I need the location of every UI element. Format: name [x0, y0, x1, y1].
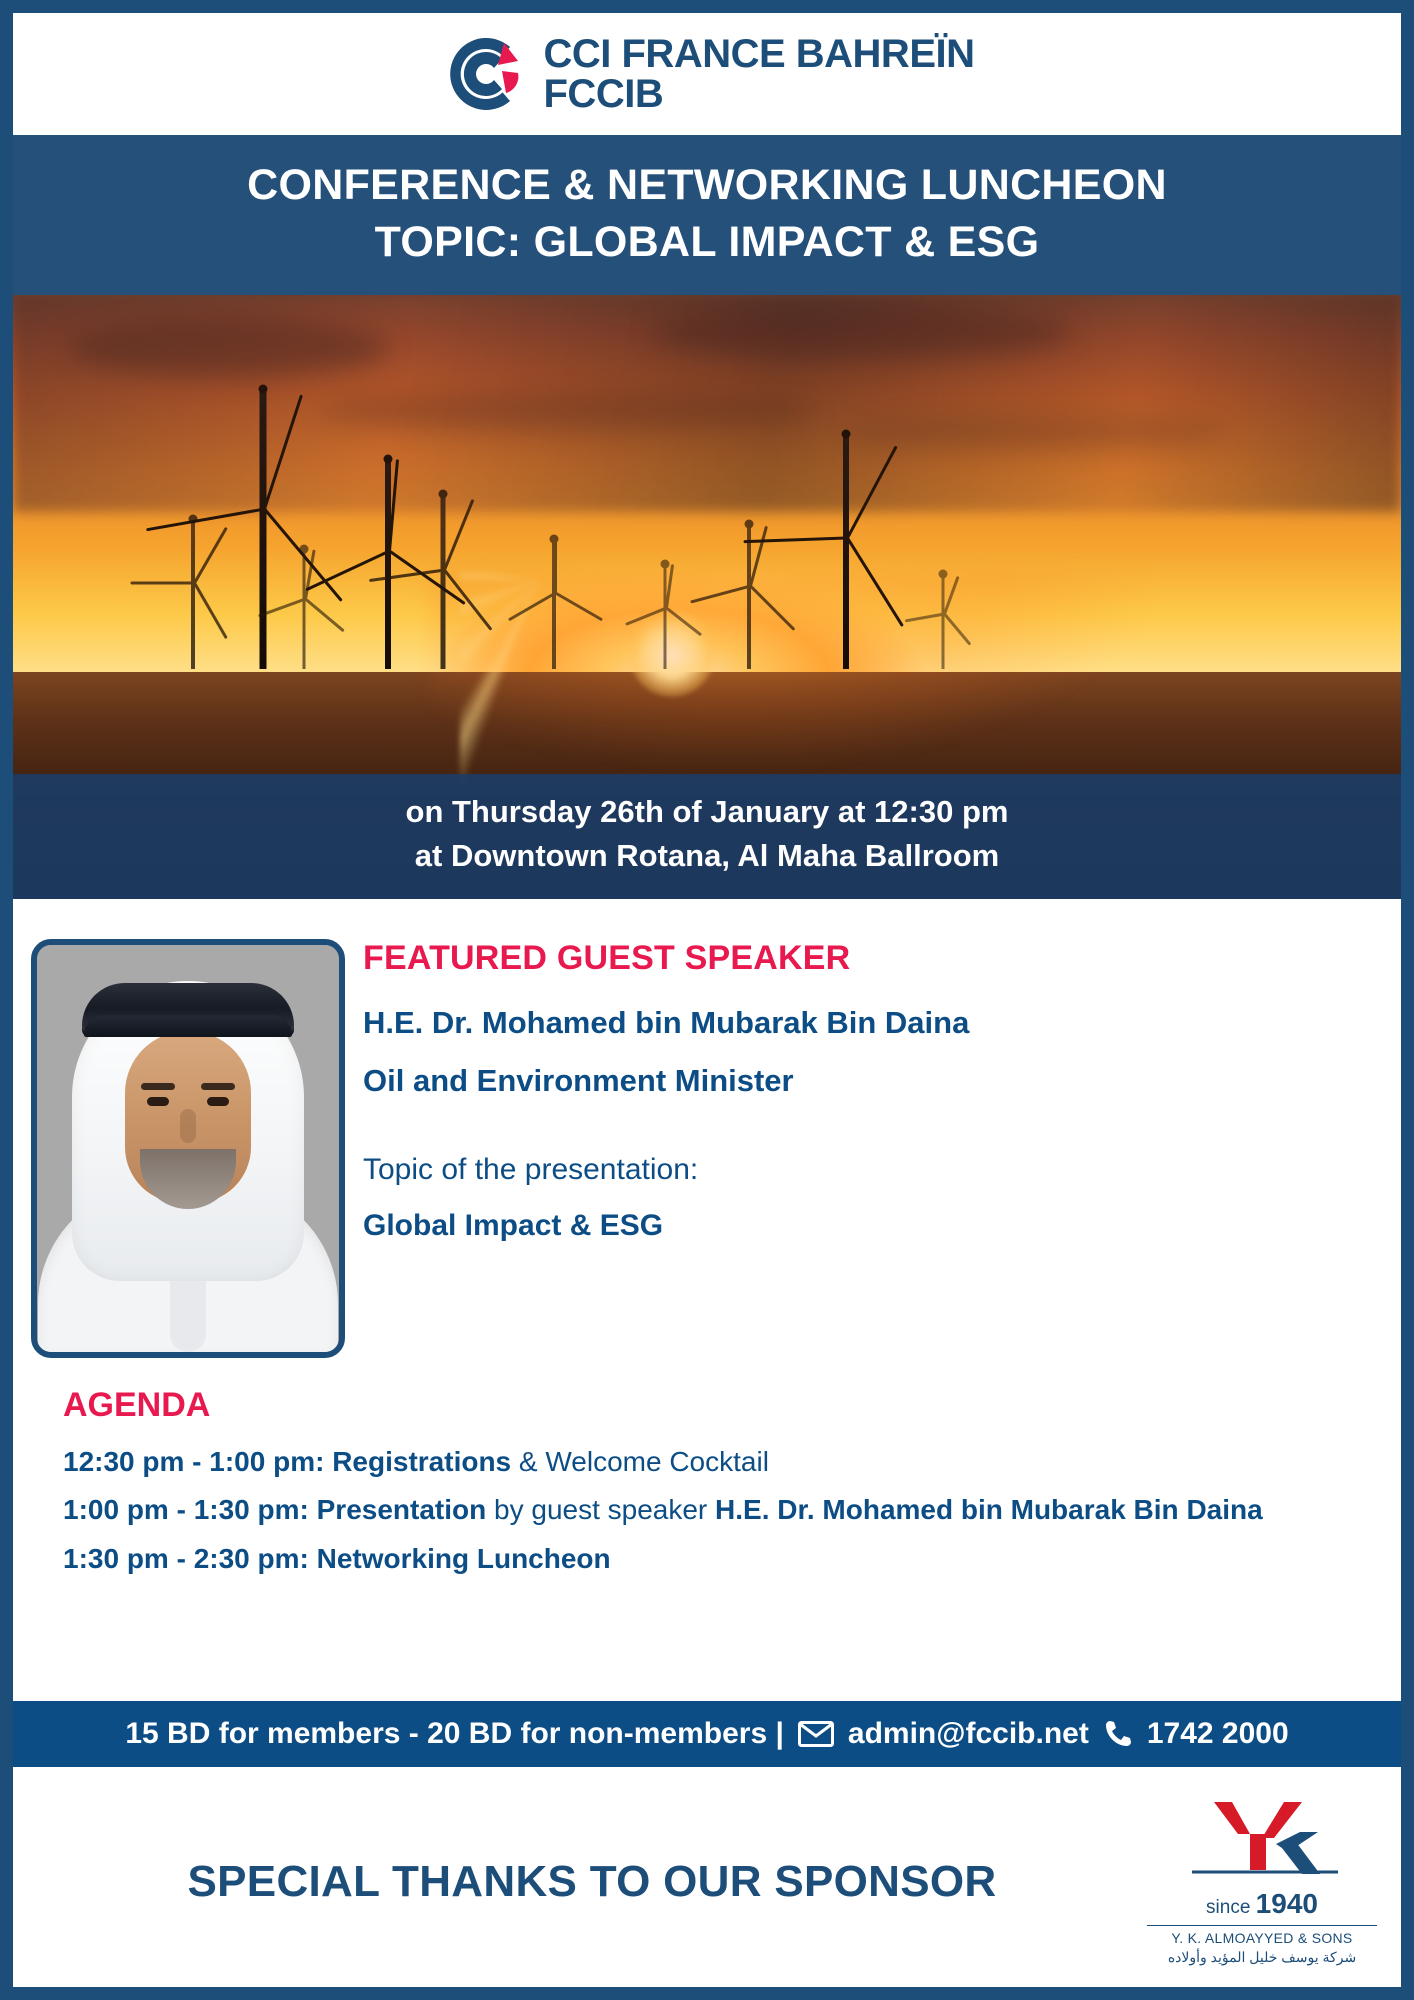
sponsor-since-prefix: since [1206, 1897, 1250, 1918]
speaker-portrait [31, 939, 345, 1358]
agenda-item-time-title: 12:30 pm - 1:00 pm: Registrations [63, 1446, 511, 1477]
envelope-icon [798, 1721, 834, 1747]
cloud-icon [651, 307, 1071, 359]
agenda-item: 1:00 pm - 1:30 pm: Presentation by guest… [63, 1489, 1361, 1532]
event-title-line2: TOPIC: GLOBAL IMPACT & ESG [23, 214, 1391, 271]
speaker-portrait-column [13, 939, 363, 1358]
speaker-name: H.E. Dr. Mohamed bin Mubarak Bin Daina [363, 1004, 1361, 1043]
agal-band-lower-shape [84, 1015, 292, 1037]
agenda-heading: AGENDA [63, 1386, 1361, 1425]
brand-name-line1: CCI FRANCE BAHREÏN [544, 34, 975, 74]
agenda-item: 1:30 pm - 2:30 pm: Networking Luncheon [63, 1538, 1361, 1581]
agenda-item-time-title: 1:00 pm - 1:30 pm: Presentation [63, 1494, 486, 1525]
brand-logo-text: CCI FRANCE BAHREÏN FCCIB [544, 34, 975, 114]
contact-phone[interactable]: 1742 2000 [1147, 1717, 1289, 1751]
sponsor-thanks-text: SPECIAL THANKS TO OUR SPONSOR [37, 1857, 1147, 1907]
agenda-item-time-title: 1:30 pm - 2:30 pm: Networking Luncheon [63, 1543, 611, 1574]
sponsor-since-year: 1940 [1256, 1888, 1318, 1919]
phone-icon [1103, 1719, 1133, 1749]
sponsor-since: since 1940 [1147, 1888, 1377, 1920]
date-venue-banner: on Thursday 26th of January at 12:30 pm … [13, 774, 1401, 898]
speaker-section: FEATURED GUEST SPEAKER H.E. Dr. Mohamed … [13, 899, 1401, 1358]
sponsor-company-name-en: Y. K. ALMOAYYED & SONS [1147, 1925, 1377, 1946]
pricing-text: 15 BD for members - 20 BD for non-member… [125, 1717, 784, 1751]
event-title-line1: CONFERENCE & NETWORKING LUNCHEON [23, 157, 1391, 214]
presentation-topic-value: Global Impact & ESG [363, 1209, 1361, 1243]
event-date: on Thursday 26th of January at 12:30 pm [23, 790, 1391, 834]
yk-almoayyed-logo-icon [1147, 1798, 1377, 1884]
hero-image-wind-turbines: on Thursday 26th of January at 12:30 pm … [13, 295, 1401, 899]
brand-logo: CCI FRANCE BAHREÏN FCCIB [440, 31, 975, 117]
face-shape [125, 1031, 251, 1203]
pricing-contact-bar: 15 BD for members - 20 BD for non-member… [13, 1701, 1401, 1767]
agenda-item-detail: & Welcome Cocktail [511, 1446, 769, 1477]
cci-france-bahrein-logo-icon [440, 31, 526, 117]
cloud-icon [69, 319, 389, 377]
sponsor-section: SPECIAL THANKS TO OUR SPONSOR since 1940… [13, 1767, 1401, 1987]
agenda-item-detail-bold: H.E. Dr. Mohamed bin Mubarak Bin Daina [715, 1494, 1263, 1525]
title-banner: CONFERENCE & NETWORKING LUNCHEON TOPIC: … [13, 135, 1401, 295]
event-venue: at Downtown Rotana, Al Maha Ballroom [23, 834, 1391, 878]
contact-email[interactable]: admin@fccib.net [848, 1717, 1089, 1751]
sponsor-logo: since 1940 Y. K. ALMOAYYED & SONS شركة ي… [1147, 1798, 1377, 1966]
agenda-item: 12:30 pm - 1:00 pm: Registrations & Welc… [63, 1441, 1361, 1484]
agenda-item-detail: by guest speaker [486, 1494, 715, 1525]
featured-guest-speaker-heading: FEATURED GUEST SPEAKER [363, 939, 1361, 978]
header-logo-bar: CCI FRANCE BAHREÏN FCCIB [13, 13, 1401, 135]
brand-name-line2: FCCIB [544, 74, 975, 114]
cloud-icon [318, 391, 818, 431]
event-poster: CCI FRANCE BAHREÏN FCCIB CONFERENCE & NE… [0, 0, 1414, 2000]
speaker-info: FEATURED GUEST SPEAKER H.E. Dr. Mohamed … [363, 939, 1401, 1358]
presentation-topic-label: Topic of the presentation: [363, 1153, 1361, 1187]
sponsor-company-name-ar: شركة يوسف خليل المؤيد وأولاده [1147, 1949, 1377, 1966]
agenda-section: AGENDA 12:30 pm - 1:00 pm: Registrations… [13, 1358, 1401, 1702]
speaker-role: Oil and Environment Minister [363, 1062, 1361, 1101]
